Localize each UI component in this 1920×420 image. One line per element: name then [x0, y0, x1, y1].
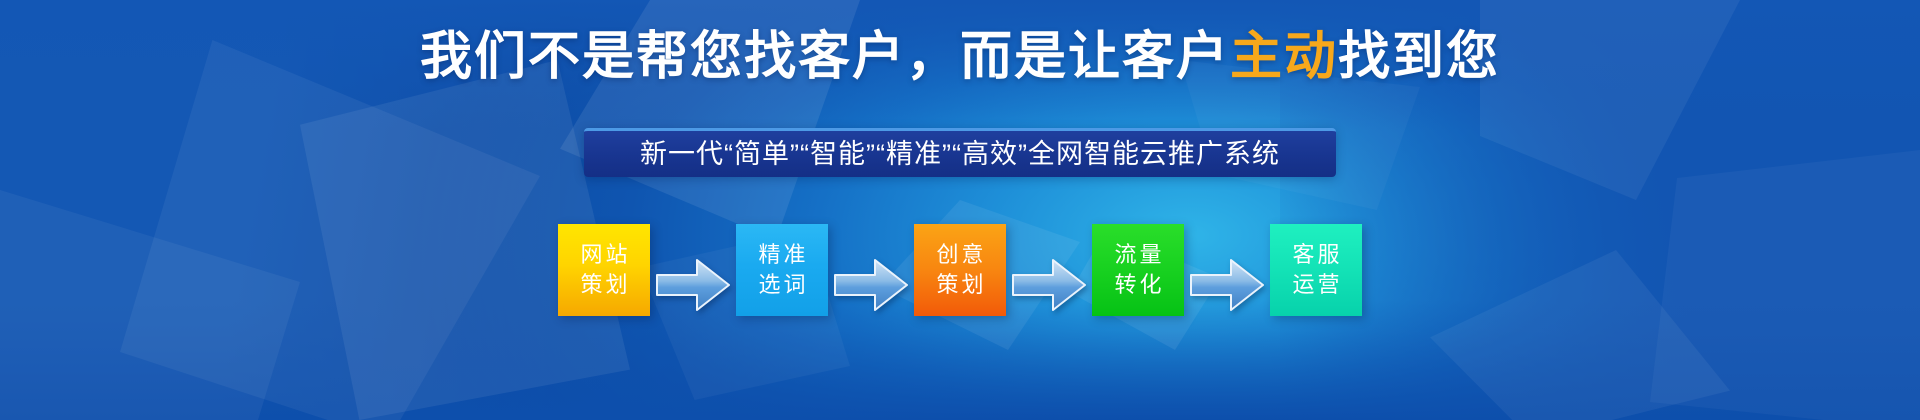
flow-step-line1: 客服: [1289, 240, 1342, 270]
headline-part2: 找到您: [1338, 28, 1500, 86]
headline-accent: 主动: [1230, 28, 1338, 86]
promo-banner: 我们不是帮您找客户，而是让客户主动找到您 新一代“简单”“智能”“精准”“高效”…: [0, 0, 1920, 420]
flow-step-line1: 网站: [577, 240, 630, 270]
headline-part1: 我们不是帮您找客户，而是让客户: [420, 28, 1230, 86]
right-arrow-icon: [655, 257, 731, 313]
headline: 我们不是帮您找客户，而是让客户主动找到您: [0, 22, 1920, 92]
flow-step-line1: 创意: [933, 240, 986, 270]
right-arrow-icon: [1189, 257, 1265, 313]
flow-step-line2: 转化: [1111, 270, 1164, 300]
right-arrow-icon: [833, 257, 909, 313]
flow-step-line1: 精准: [755, 240, 808, 270]
subtitle-bar: 新一代“简单”“智能”“精准”“高效”全网智能云推广系统: [584, 128, 1336, 177]
flow-step-line1: 流量: [1111, 240, 1164, 270]
subtitle-text: 新一代“简单”“智能”“精准”“高效”全网智能云推广系统: [640, 141, 1280, 168]
flow-arrow-4: [1184, 257, 1270, 313]
flow-arrow-3: [1006, 257, 1092, 313]
right-arrow-icon: [1011, 257, 1087, 313]
flow-step-line2: 选词: [755, 270, 808, 300]
background-shard: [1650, 150, 1920, 420]
flow-step-line2: 运营: [1289, 270, 1342, 300]
flow-arrow-1: [650, 257, 736, 313]
flow-step-precise-keywords[interactable]: 精准 选词: [736, 224, 828, 316]
flow-step-traffic-conversion[interactable]: 流量 转化: [1092, 224, 1184, 316]
flow-step-website-planning[interactable]: 网站 策划: [558, 224, 650, 316]
process-flow: 网站 策划 精准 选词: [558, 224, 1362, 316]
flow-step-line2: 策划: [933, 270, 986, 300]
flow-step-customer-service[interactable]: 客服 运营: [1270, 224, 1362, 316]
flow-step-line2: 策划: [577, 270, 630, 300]
flow-step-creative-planning[interactable]: 创意 策划: [914, 224, 1006, 316]
flow-arrow-2: [828, 257, 914, 313]
